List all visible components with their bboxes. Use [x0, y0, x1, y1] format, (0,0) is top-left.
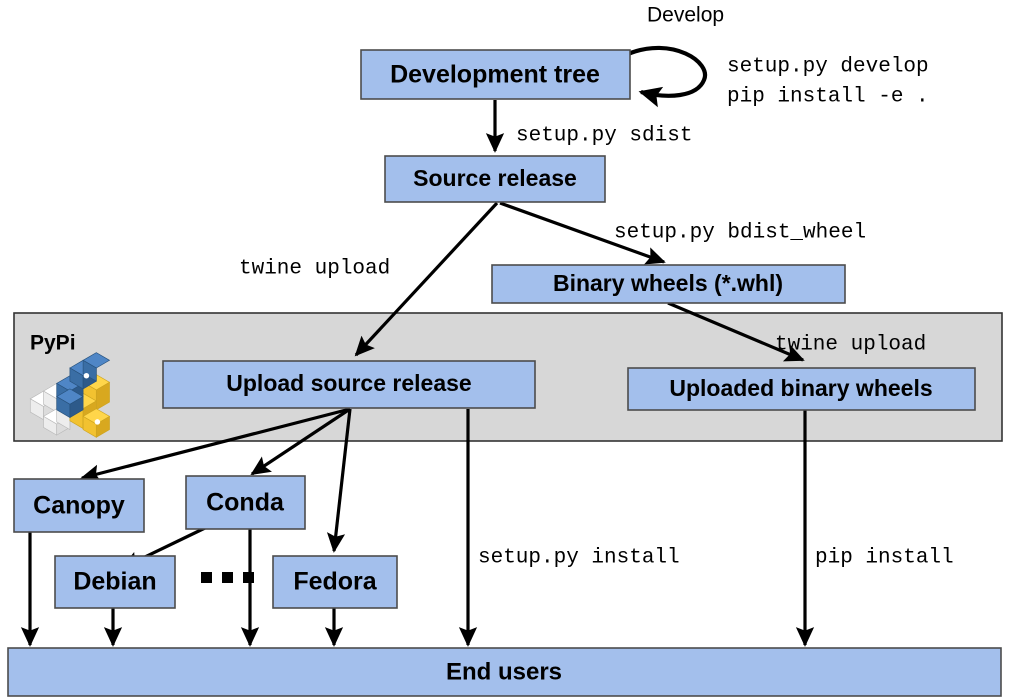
packaging-flow-diagram: PyPi [0, 0, 1009, 698]
node-canopy[interactable]: Canopy [14, 479, 144, 532]
edge-label-setup-develop: setup.py develop [727, 56, 929, 79]
edge-label-twine-upload-wheels: twine upload [775, 334, 926, 357]
node-uploaded-binary-wheels[interactable]: Uploaded binary wheels [628, 368, 975, 410]
node-end-users[interactable]: End users [8, 648, 1001, 696]
pypi-group-label: PyPi [30, 332, 76, 355]
node-source-release-label: Source release [413, 165, 577, 191]
edge-label-develop: Develop [647, 4, 724, 27]
edge-label-twine-upload-source: twine upload [239, 258, 390, 281]
node-development-tree-label: Development tree [390, 61, 600, 89]
node-fedora-label: Fedora [293, 568, 377, 596]
edge-label-setup-sdist: setup.py sdist [516, 125, 692, 148]
node-fedora[interactable]: Fedora [273, 556, 397, 608]
edge-label-setup-bdist-wheel: setup.py bdist_wheel [614, 222, 866, 245]
node-canopy-label: Canopy [33, 492, 125, 520]
node-upload-source-release-label: Upload source release [226, 370, 471, 396]
ellipsis-more-distros [201, 572, 254, 583]
node-debian-label: Debian [73, 568, 156, 596]
node-upload-source-release[interactable]: Upload source release [163, 361, 535, 408]
node-binary-wheels[interactable]: Binary wheels (*.whl) [492, 265, 845, 303]
node-end-users-label: End users [446, 658, 562, 685]
node-conda-label: Conda [206, 489, 285, 517]
diagram-canvas: PyPi [0, 0, 1009, 698]
edge-develop-self-loop [628, 48, 705, 96]
edge-label-pip-install: pip install [815, 547, 954, 570]
edge-label-pip-install-editable: pip install -e . [727, 86, 929, 109]
edge-label-setup-install: setup.py install [478, 547, 680, 570]
node-uploaded-binary-wheels-label: Uploaded binary wheels [669, 375, 932, 401]
node-source-release[interactable]: Source release [385, 156, 605, 202]
node-binary-wheels-label: Binary wheels (*.whl) [553, 270, 783, 296]
node-development-tree[interactable]: Development tree [361, 50, 630, 99]
node-debian[interactable]: Debian [55, 556, 175, 608]
node-conda[interactable]: Conda [186, 476, 305, 529]
